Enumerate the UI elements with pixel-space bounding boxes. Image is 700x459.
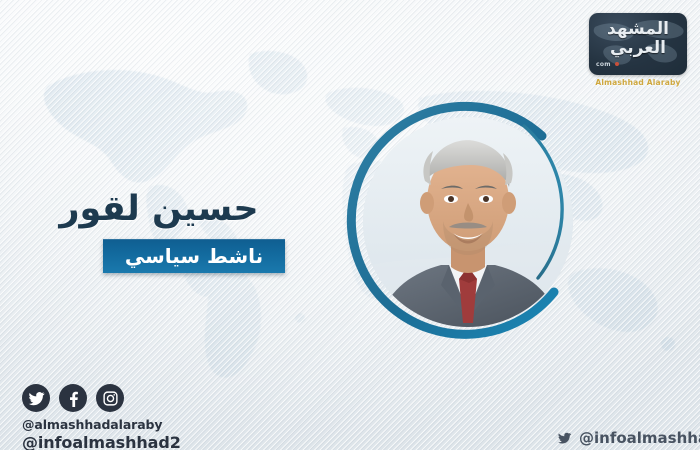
logo-arabic-line-1: المشهد (589, 20, 687, 39)
logo-arabic-text: المشهد العربي (589, 20, 687, 58)
logo-arabic-line-2: العربي (589, 39, 687, 58)
logo-caption: Almashhad Alaraby (589, 78, 687, 87)
role-badge: ناشط سياسي (103, 239, 285, 273)
handle-primary[interactable]: @almashhadalaraby (22, 417, 181, 432)
social-media-card: المشهد العربي com Almashhad Alaraby (0, 0, 700, 459)
instagram-icon[interactable] (96, 384, 124, 412)
bottom-white-strip (0, 450, 700, 459)
logo-plate: المشهد العربي com (589, 13, 687, 75)
facebook-icon[interactable] (59, 384, 87, 412)
logo-com-text: com (596, 61, 611, 68)
twitter-bird-icon (556, 431, 573, 445)
corner-handle-text: @infoalmashhad2 (579, 429, 700, 447)
social-block: @almashhadalaraby @infoalmashhad2 (22, 384, 181, 453)
social-icon-row (22, 384, 181, 412)
logo-accent-dot (615, 62, 619, 66)
portrait-frame (342, 96, 594, 348)
brand-logo: المشهد العربي com Almashhad Alaraby (589, 13, 687, 97)
corner-twitter-handle[interactable]: @infoalmashhad2 (556, 429, 700, 447)
social-handles: @almashhadalaraby @infoalmashhad2 (22, 417, 181, 453)
decorative-ring (342, 96, 594, 348)
person-name: حسين لقور (0, 189, 318, 229)
twitter-icon[interactable] (22, 384, 50, 412)
